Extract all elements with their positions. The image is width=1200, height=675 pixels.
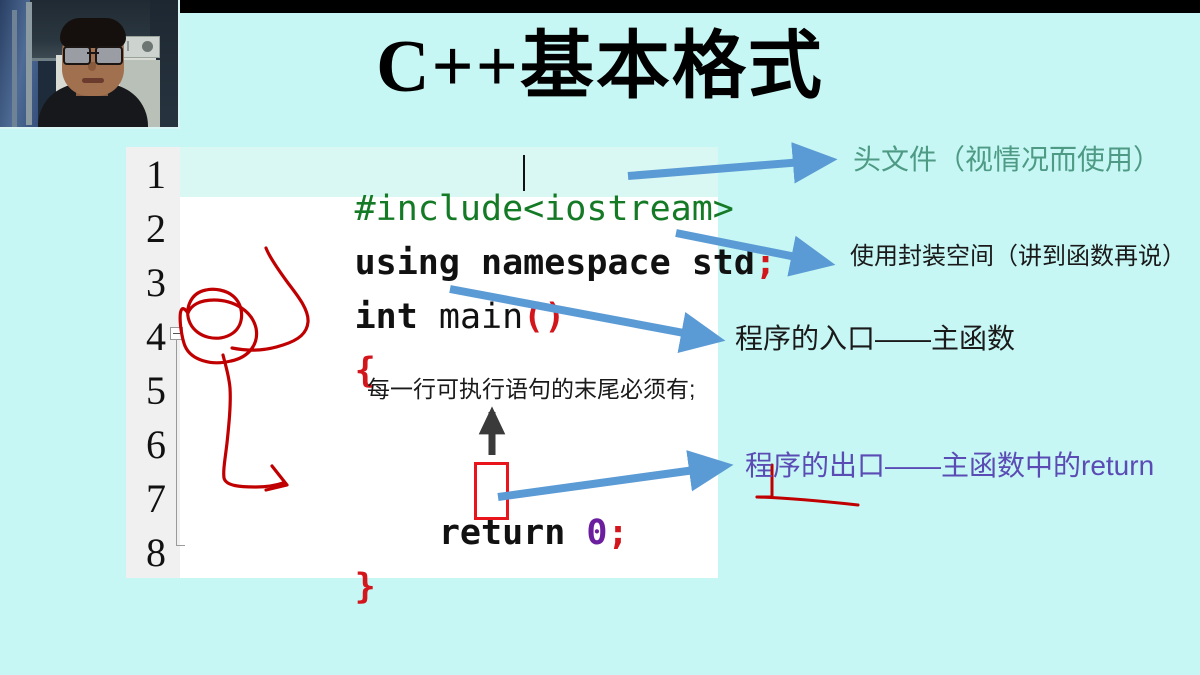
code-fold-line [176, 340, 177, 546]
line-number-gutter: 1 2 3 4 5 6 7 8 [126, 147, 180, 578]
slide-canvas: C++基本格式 1 2 3 4 5 6 7 8 #include<iostrea… [0, 0, 1200, 675]
line-number-1: 1 [126, 155, 166, 195]
code-token-semicolon-l2: ; [755, 243, 776, 283]
code-token-main: main [439, 297, 523, 337]
code-editor-panel: 1 2 3 4 5 6 7 8 #include<iostream> using… [126, 147, 718, 578]
semicolon-highlight-box [474, 462, 509, 520]
annotation-exit-point: 程序的出口——主函数中的return [745, 452, 1154, 480]
page-title: C++基本格式 [0, 28, 1200, 106]
annotation-namespace: 使用封装空间（讲到函数再说） [850, 245, 1186, 269]
line-number-5: 5 [126, 371, 166, 411]
line-number-3: 3 [126, 263, 166, 303]
code-line-4: { [186, 319, 376, 424]
code-token-semicolon-l7: ; [607, 513, 628, 553]
annotation-header-file: 头文件（视情况而使用） [853, 146, 1161, 174]
code-token-zero: 0 [586, 513, 607, 553]
line-number-8: 8 [126, 533, 166, 573]
line-number-2: 2 [126, 209, 166, 249]
line-number-6: 6 [126, 425, 166, 465]
line-number-7: 7 [126, 479, 166, 519]
code-text-area[interactable]: #include<iostream> using namespace std; … [180, 147, 718, 578]
annotation-semicolon-rule: 每一行可执行语句的末尾必须有; [367, 378, 695, 401]
line-number-4: 4 [126, 317, 166, 357]
code-token-return: return [355, 513, 587, 553]
code-token-close-brace: } [355, 567, 376, 607]
text-caret [523, 155, 525, 191]
code-token-parens: () [523, 297, 565, 337]
code-line-8: } [186, 535, 376, 640]
top-black-bar [0, 0, 1200, 13]
annotation-entry-point: 程序的入口——主函数 [735, 325, 1015, 353]
